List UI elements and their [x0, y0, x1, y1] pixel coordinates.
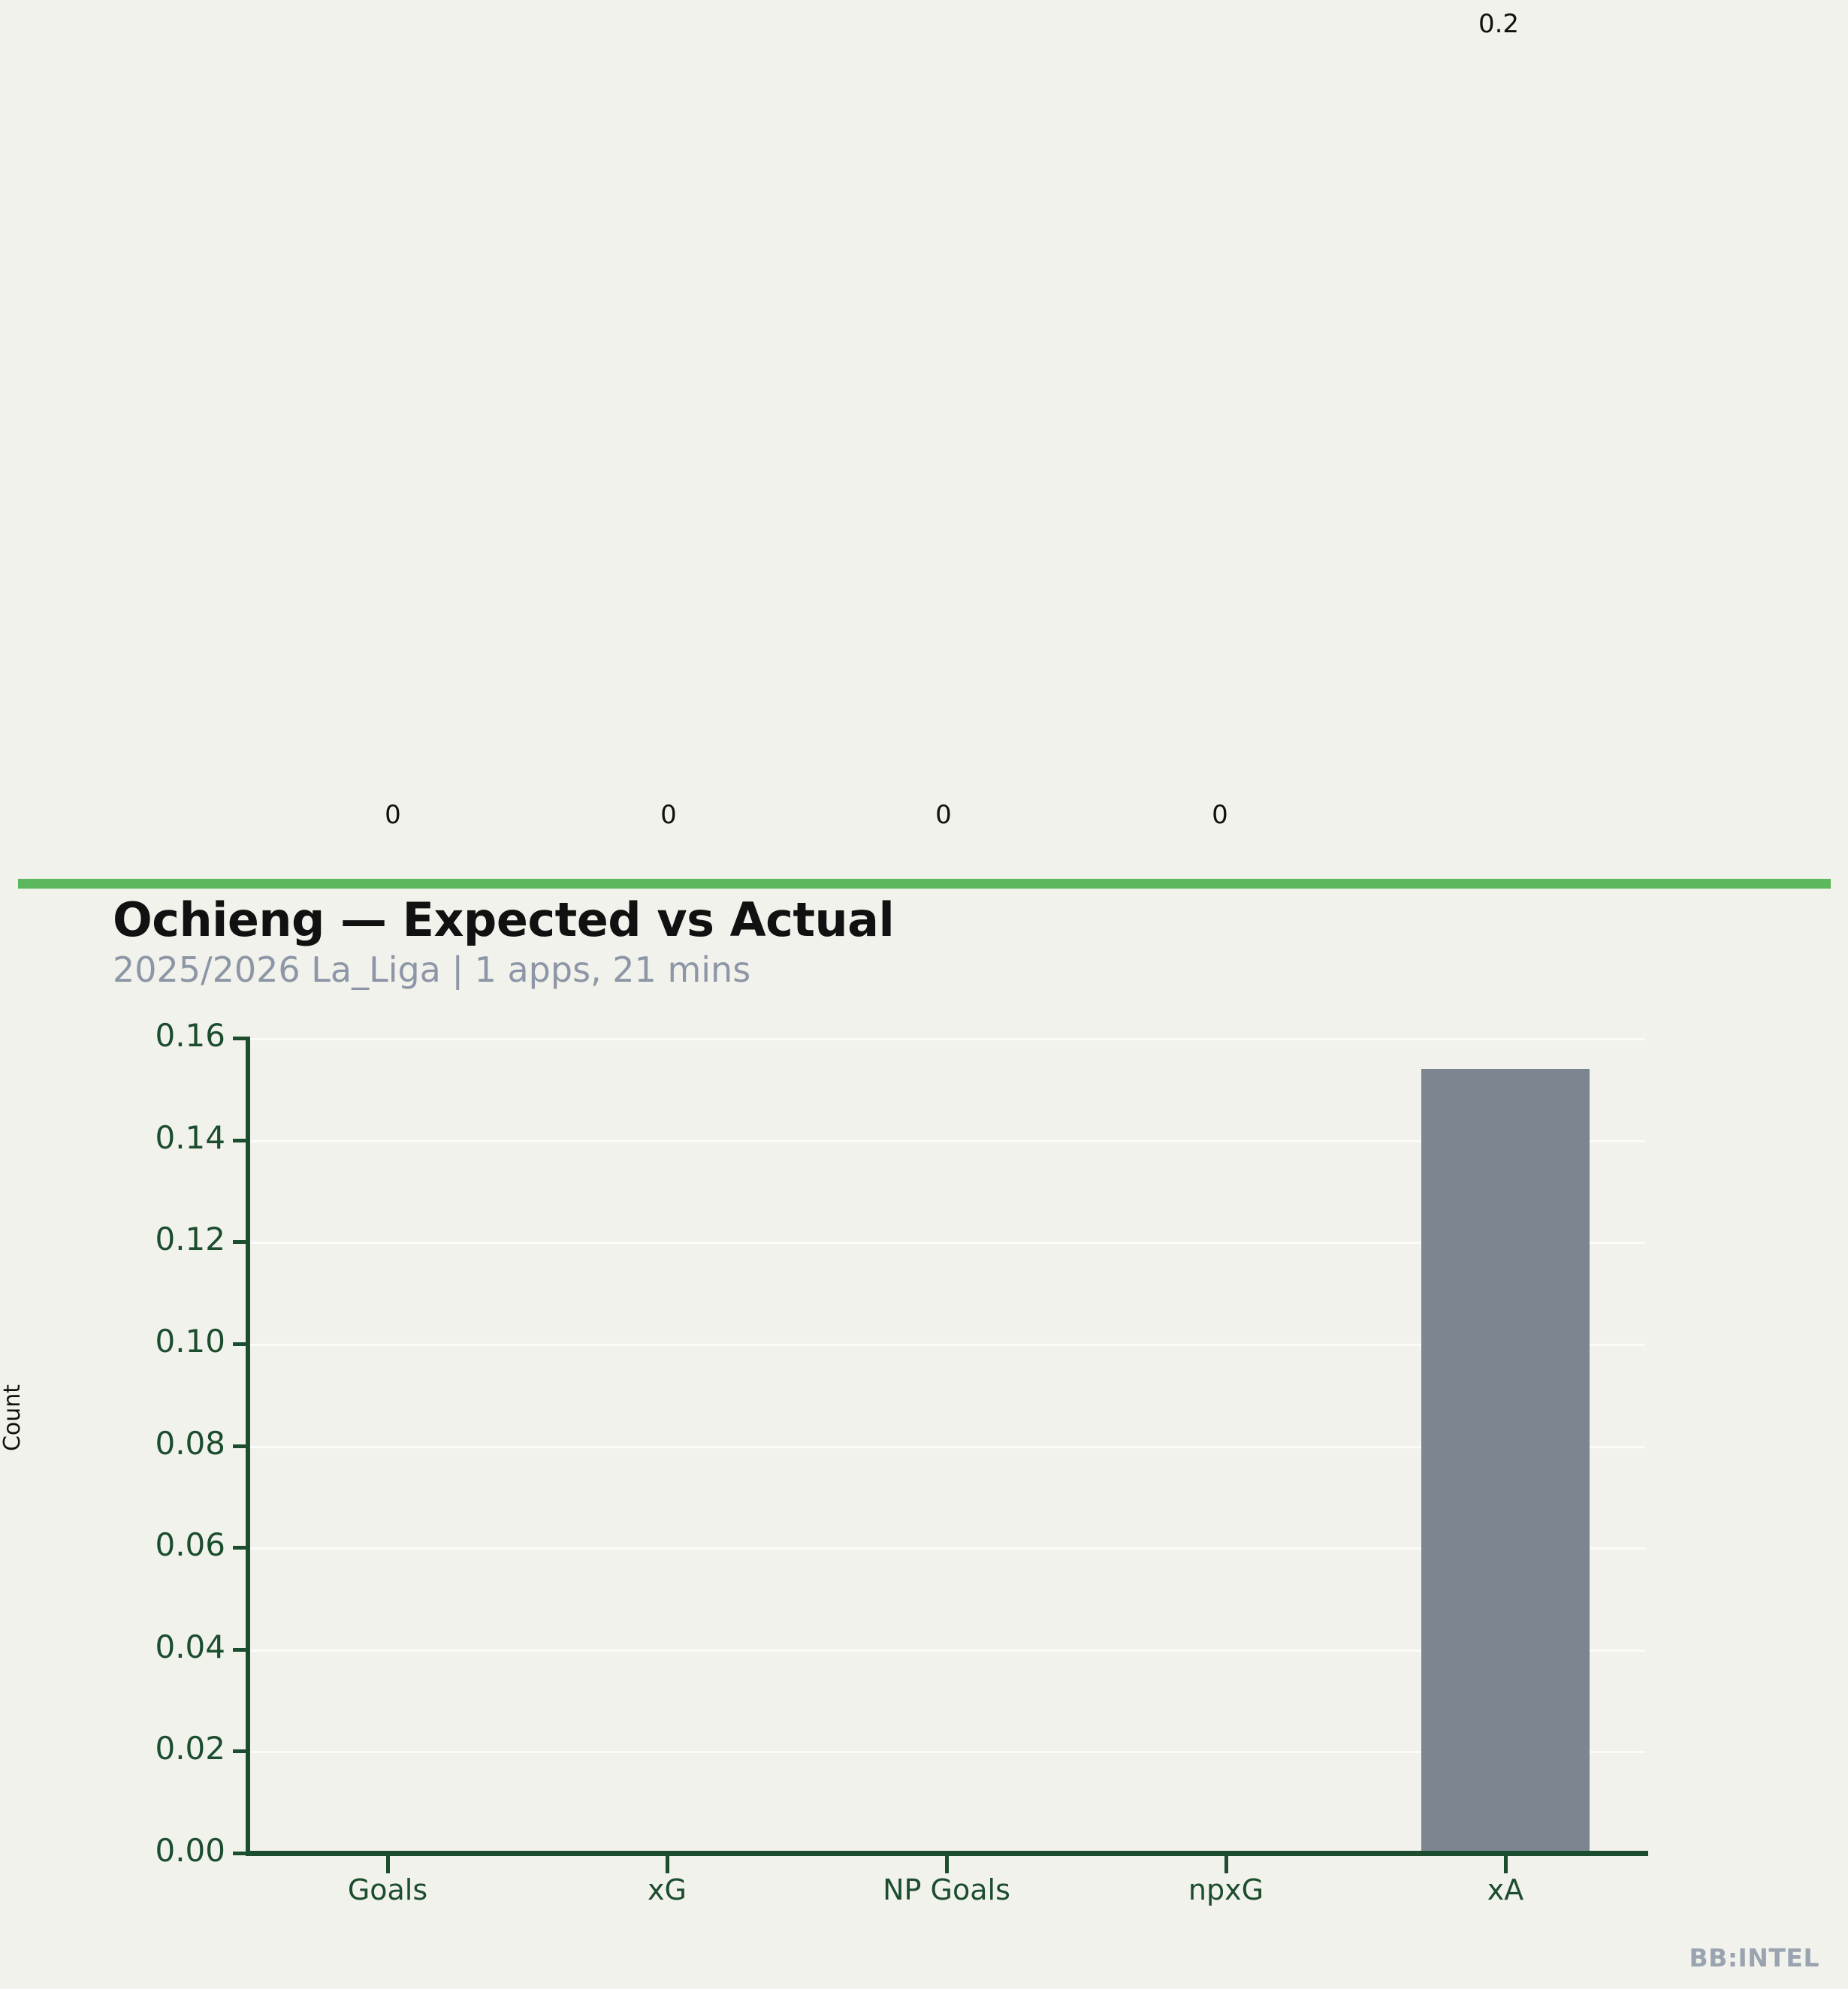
x-tick-mark — [945, 1855, 949, 1873]
gridline — [248, 1547, 1645, 1550]
x-tick-label-goals: Goals — [348, 1873, 427, 1906]
top-value-label-npxg: 0 — [1212, 800, 1228, 830]
gridline — [248, 1242, 1645, 1244]
x-tick-mark — [1224, 1855, 1228, 1873]
brand-watermark: BB:INTEL — [1689, 1943, 1819, 1972]
top-value-label-goals: 0 — [385, 800, 401, 830]
top-value-label-xg: 0 — [660, 800, 677, 830]
y-axis-title: Count — [0, 1384, 26, 1451]
y-tick-mark — [233, 1240, 246, 1244]
x-tick-label-npxg: npxG — [1188, 1873, 1264, 1906]
y-axis-spine — [246, 1037, 250, 1855]
top-clipped-chart-panel: 0.2 0 0 0 0 — [0, 0, 1848, 879]
y-tick-mark — [233, 1648, 246, 1652]
y-tick-mark — [233, 1037, 246, 1040]
bar-xa[interactable] — [1421, 1069, 1589, 1853]
page-title: Ochieng — Expected vs Actual — [113, 895, 1765, 944]
y-tick-mark — [233, 1139, 246, 1142]
x-axis-spine — [246, 1851, 1648, 1856]
x-tick-label-xa: xA — [1487, 1873, 1523, 1906]
y-tick-label: 0.06 — [30, 1526, 225, 1563]
plot-region — [248, 1038, 1645, 1853]
y-tick-label: 0.08 — [30, 1425, 225, 1462]
y-tick-label: 0.14 — [30, 1119, 225, 1156]
gridline — [248, 1446, 1645, 1448]
gridline — [248, 1344, 1645, 1346]
chart-header: Ochieng — Expected vs Actual 2025/2026 L… — [113, 895, 1765, 990]
y-tick-label: 0.10 — [30, 1323, 225, 1360]
y-tick-mark — [233, 1749, 246, 1753]
y-tick-mark — [233, 1342, 246, 1346]
top-value-label-np-goals: 0 — [935, 800, 952, 830]
accent-divider-bar — [18, 879, 1831, 889]
y-tick-mark — [233, 1546, 246, 1550]
y-tick-label: 0.00 — [30, 1832, 225, 1869]
x-tick-mark — [1504, 1855, 1508, 1873]
gridline — [248, 1649, 1645, 1652]
gridline — [248, 1140, 1645, 1142]
top-value-label-xa: 0.2 — [1478, 9, 1519, 39]
y-tick-label: 0.04 — [30, 1628, 225, 1665]
y-tick-label: 0.16 — [30, 1017, 225, 1054]
y-tick-mark — [233, 1444, 246, 1448]
x-tick-label-xg: xG — [648, 1873, 687, 1906]
x-tick-mark — [386, 1855, 390, 1873]
gridline — [248, 1038, 1645, 1040]
chart-subtitle: 2025/2026 La_Liga | 1 apps, 21 mins — [113, 950, 1765, 990]
y-tick-mark — [233, 1852, 246, 1855]
gridline — [248, 1751, 1645, 1753]
y-tick-label: 0.02 — [30, 1730, 225, 1767]
x-tick-mark — [666, 1855, 669, 1873]
y-tick-label: 0.12 — [30, 1221, 225, 1257]
x-tick-label-np-goals: NP Goals — [883, 1873, 1010, 1906]
